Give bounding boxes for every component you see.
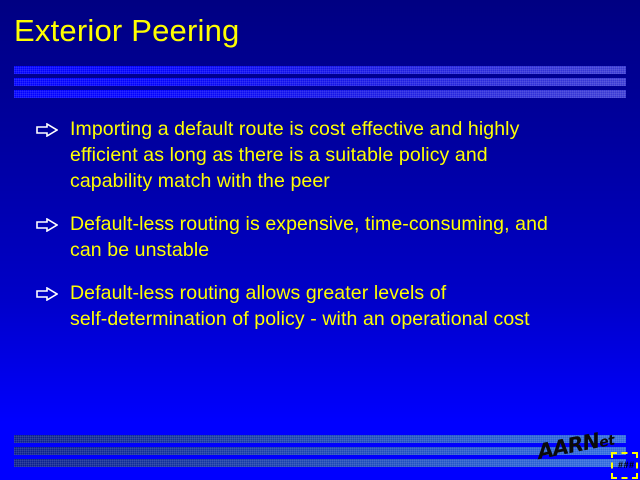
list-item-line: Default-less routing allows greater leve… — [70, 280, 530, 306]
list-item-text: Default-less routing is expensive, time-… — [70, 211, 548, 263]
list-item: Importing a default route is cost effect… — [36, 116, 616, 194]
list-item-line: Default-less routing is expensive, time-… — [70, 211, 548, 237]
decorative-stripe — [14, 447, 626, 455]
slide-number-placeholder: ### — [611, 452, 638, 479]
slide-canvas: Exterior Peering Importing a default rou… — [0, 0, 640, 480]
list-item-text: Importing a default route is cost effect… — [70, 116, 519, 194]
list-item-line: efficient as long as there is a suitable… — [70, 142, 519, 168]
right-arrow-outline-icon — [36, 116, 70, 137]
logo-main: AARN — [535, 429, 601, 464]
decorative-stripe — [14, 435, 626, 443]
slide-number-text: ### — [618, 460, 635, 470]
right-arrow-outline-icon — [36, 211, 70, 232]
list-item-text: Default-less routing allows greater leve… — [70, 280, 530, 332]
bullet-list: Importing a default route is cost effect… — [36, 116, 616, 349]
decorative-stripe — [14, 459, 626, 467]
right-arrow-outline-icon — [36, 280, 70, 301]
slide-title: Exterior Peering — [14, 12, 239, 50]
logo-suffix: et — [598, 433, 616, 452]
list-item-line: self-determination of policy - with an o… — [70, 306, 530, 332]
decorative-stripe — [14, 78, 626, 86]
list-item: Default-less routing is expensive, time-… — [36, 211, 616, 263]
list-item: Default-less routing allows greater leve… — [36, 280, 616, 332]
top-decorative-stripes — [14, 66, 626, 102]
list-item-line: capability match with the peer — [70, 168, 519, 194]
list-item-line: can be unstable — [70, 237, 548, 263]
list-item-line: Importing a default route is cost effect… — [70, 116, 519, 142]
aarnet-logo-text: AARNet — [535, 426, 616, 464]
decorative-stripe — [14, 66, 626, 74]
bottom-decorative-stripes — [14, 435, 626, 471]
aarnet-logo: AARNet — [540, 434, 620, 468]
decorative-stripe — [14, 90, 626, 98]
